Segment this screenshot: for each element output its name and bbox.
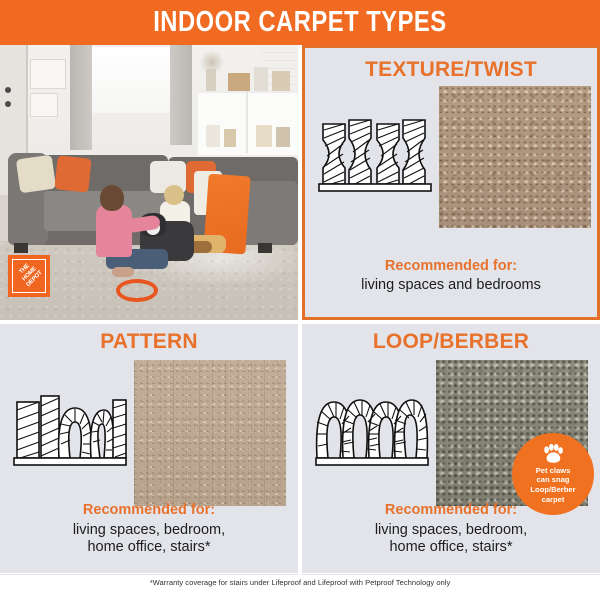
loop-berber-title: LOOP/BERBER bbox=[302, 330, 600, 354]
the-home-depot-logo: THE HOME DEPOT bbox=[8, 255, 50, 297]
photo-child-head bbox=[164, 185, 184, 205]
footnote-text: *Warranty coverage for stairs under Life… bbox=[0, 578, 600, 587]
photo-pillow-orange bbox=[54, 155, 91, 192]
photo-woman-foot bbox=[112, 267, 134, 277]
photo-vase bbox=[206, 69, 216, 93]
rec-label: Recommended for: bbox=[305, 258, 597, 276]
photo-shelf-jar-2 bbox=[224, 129, 236, 147]
photo-door-knob bbox=[5, 87, 11, 93]
rec-line-1: living spaces, bedroom, bbox=[0, 522, 298, 540]
header-banner: INDOOR CARPET TYPES bbox=[0, 0, 600, 45]
living-room-photo: THE HOME DEPOT bbox=[0, 45, 298, 320]
pet-badge-line-3: Loop/Berber bbox=[530, 485, 575, 494]
pattern-title: PATTERN bbox=[0, 330, 298, 354]
photo-window bbox=[88, 47, 176, 113]
logo-text: THE HOME DEPOT bbox=[12, 259, 46, 293]
pet-badge-line-2: can snag bbox=[537, 475, 570, 484]
pet-claws-warning-badge: Pet claws can snag Loop/Berber carpet bbox=[512, 433, 594, 515]
rec-line-2: home office, stairs* bbox=[302, 539, 600, 557]
paw-print-icon bbox=[542, 444, 564, 464]
texture-twist-cross-section-diagram bbox=[317, 110, 435, 205]
photo-shelf-divider bbox=[246, 91, 248, 153]
pet-badge-text: Pet claws can snag Loop/Berber carpet bbox=[524, 466, 581, 504]
panel-pattern: PATTERN bbox=[0, 324, 298, 575]
pattern-card: PATTERN bbox=[0, 324, 298, 575]
photo-shelf-jar-1 bbox=[206, 125, 220, 147]
texture-twist-card: TEXTURE/TWIST bbox=[302, 45, 600, 320]
footnote-divider bbox=[0, 573, 600, 574]
logo-frame: THE HOME DEPOT bbox=[12, 259, 46, 293]
photo-curtain-left bbox=[70, 45, 92, 150]
infographic-page: INDOOR CARPET TYPES bbox=[0, 0, 600, 600]
pet-badge-line-1: Pet claws bbox=[536, 466, 571, 475]
panel-loop-berber: LOOP/BERBER bbox=[302, 324, 600, 575]
photo-door-knob-lower bbox=[5, 101, 11, 107]
quadrant-grid: THE HOME DEPOT TEXTURE/TWIST bbox=[0, 45, 600, 575]
photo-shelf-box-3 bbox=[272, 71, 290, 93]
photo-shelf-jar-4 bbox=[276, 127, 290, 147]
pattern-carpet-swatch bbox=[134, 360, 286, 506]
photo-shelf-box-2 bbox=[254, 67, 268, 93]
texture-twist-carpet-swatch bbox=[439, 86, 591, 228]
photo-wall-art-small bbox=[30, 93, 58, 117]
pet-badge-line-4: carpet bbox=[542, 495, 565, 504]
rec-line-2: home office, stairs* bbox=[0, 539, 298, 557]
loop-berber-card: LOOP/BERBER bbox=[302, 324, 600, 575]
page-title: INDOOR CARPET TYPES bbox=[153, 6, 446, 39]
photo-woman-head bbox=[100, 185, 124, 211]
loop-berber-cross-section-diagram bbox=[314, 384, 432, 479]
photo-branch-decor bbox=[200, 49, 224, 71]
photo-curtain-right bbox=[170, 45, 192, 145]
texture-twist-title: TEXTURE/TWIST bbox=[305, 58, 597, 82]
texture-twist-recommendation: Recommended for: living spaces and bedro… bbox=[305, 258, 597, 295]
rec-label: Recommended for: bbox=[0, 502, 298, 520]
pattern-recommendation: Recommended for: living spaces, bedroom,… bbox=[0, 502, 298, 557]
panel-texture-twist: TEXTURE/TWIST bbox=[302, 45, 600, 320]
photo-wall-art bbox=[30, 59, 66, 89]
panel-hero-photo: THE HOME DEPOT bbox=[0, 45, 298, 320]
rec-line-1: living spaces, bedroom, bbox=[302, 522, 600, 540]
photo-sofa-leg-left bbox=[14, 243, 28, 253]
rec-line: living spaces and bedrooms bbox=[305, 277, 597, 295]
pattern-cross-section-diagram bbox=[12, 384, 130, 479]
photo-woman-body bbox=[96, 205, 132, 257]
photo-sofa-leg-right bbox=[258, 243, 272, 253]
photo-shelf-box-1 bbox=[228, 73, 250, 93]
photo-shelf-jar-3 bbox=[256, 125, 272, 147]
photo-pillow-cream bbox=[16, 155, 56, 194]
photo-dog-toy bbox=[116, 279, 158, 302]
